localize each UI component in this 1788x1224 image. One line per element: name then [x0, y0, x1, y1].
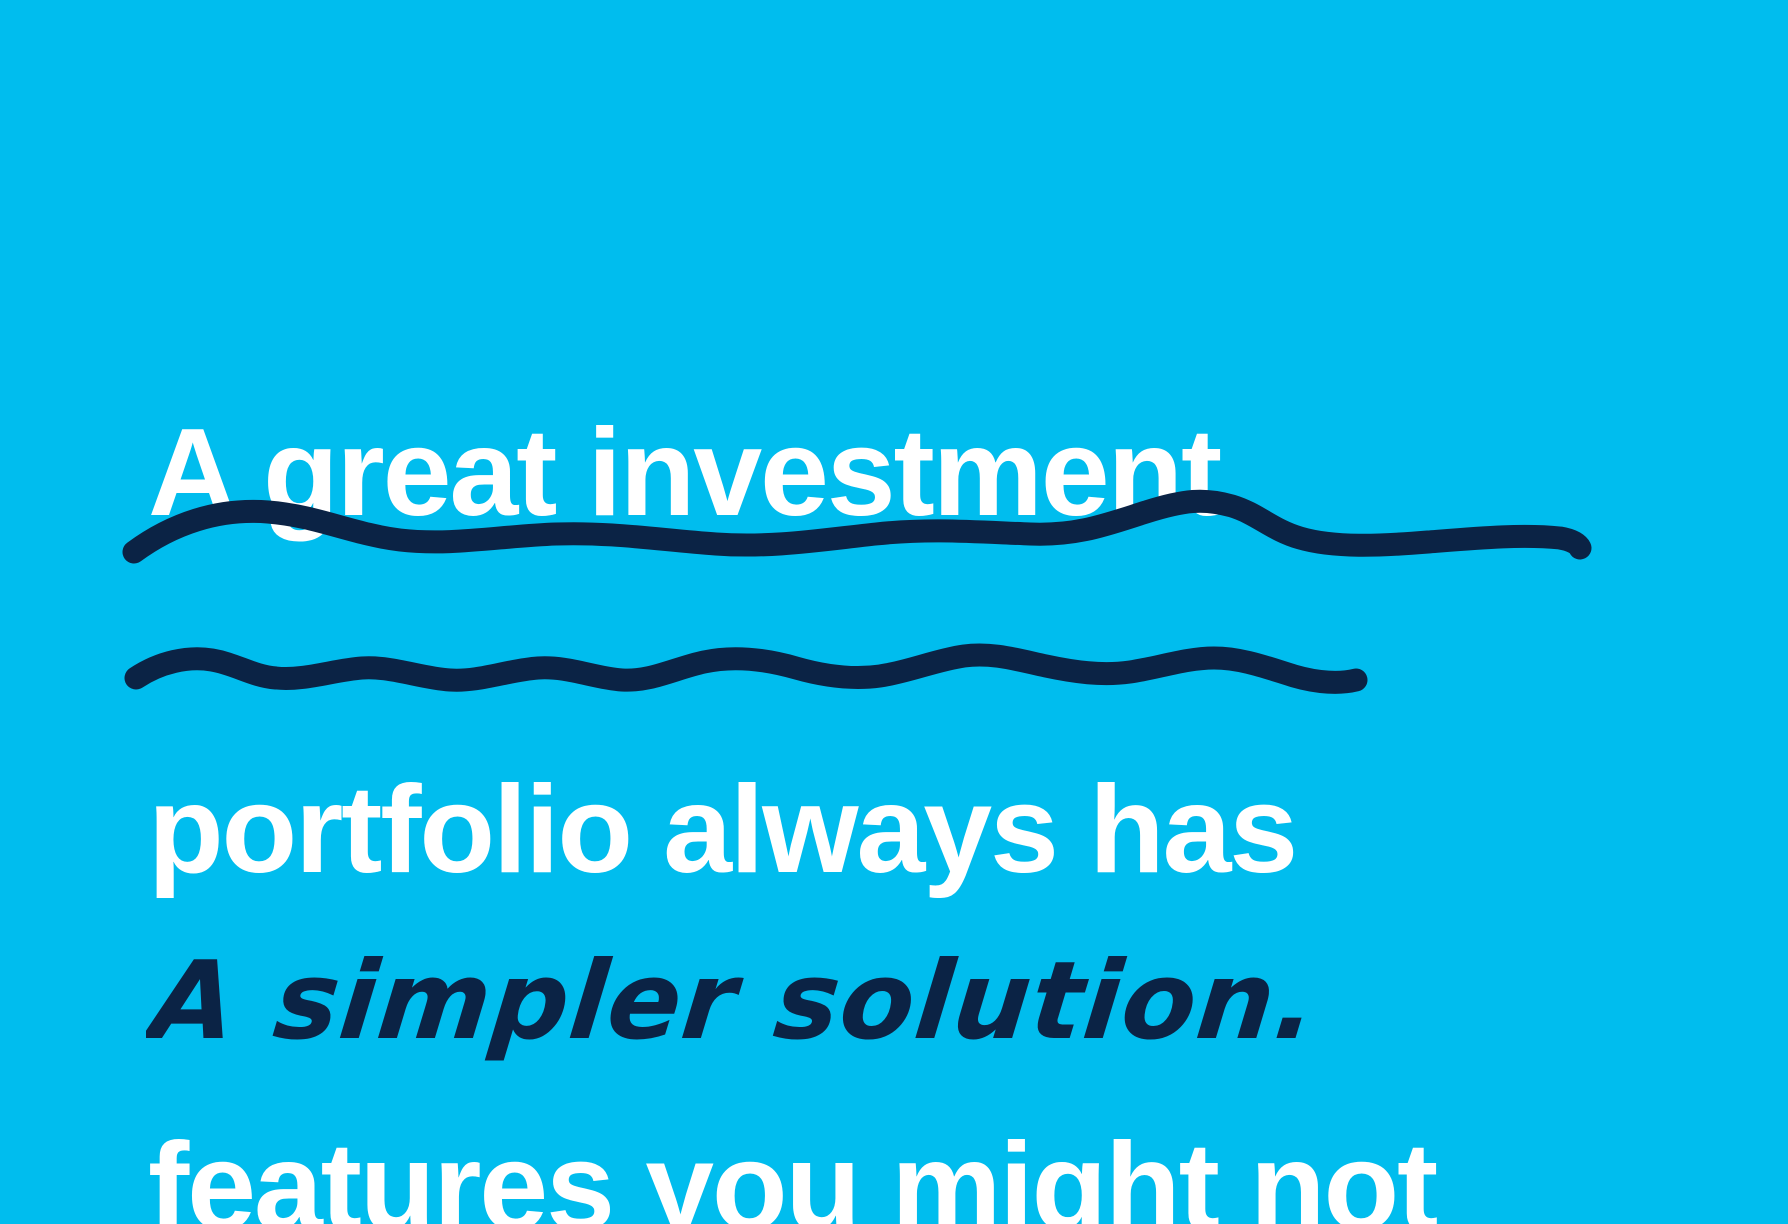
headline-line-3: features you might not — [148, 1128, 1708, 1224]
promo-slide: A great investment portfolio always has … — [0, 0, 1788, 1224]
tagline: A simpler solution. — [146, 906, 1546, 1086]
tagline-text: A simpler solution. — [146, 937, 1324, 1064]
headline-line-2: portfolio always has — [148, 771, 1708, 890]
headline-line-1: A great investment — [148, 414, 1708, 533]
